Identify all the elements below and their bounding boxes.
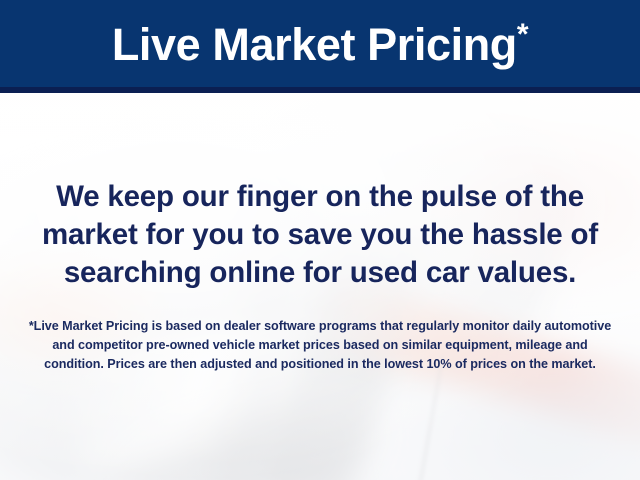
disclaimer-text: *Live Market Pricing is based on dealer … — [24, 317, 616, 374]
title-banner: Live Market Pricing* — [0, 0, 640, 93]
title-asterisk: * — [517, 18, 528, 51]
live-market-pricing-banner: Live Market Pricing* We keep our finger … — [0, 0, 640, 480]
page-title: Live Market Pricing* — [112, 22, 528, 71]
title-banner-underline — [0, 87, 640, 93]
page-title-text: Live Market Pricing — [112, 19, 517, 70]
headline-text: We keep our finger on the pulse of the m… — [26, 178, 614, 292]
